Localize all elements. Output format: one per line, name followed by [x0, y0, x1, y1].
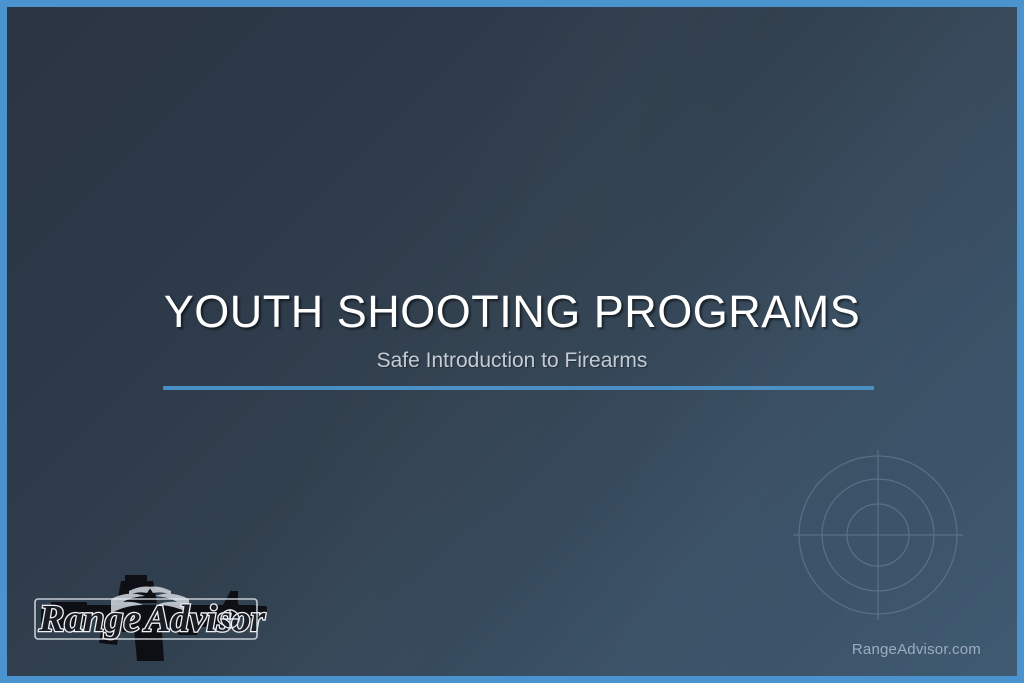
brand-word-range: Range	[38, 598, 140, 640]
slide-frame: YOUTH SHOOTING PROGRAMS Safe Introductio…	[0, 0, 1024, 683]
crosshair-target-icon	[791, 448, 965, 622]
page-title: YOUTH SHOOTING PROGRAMS	[7, 288, 1017, 336]
rifle-silhouette-logo: Range Advisor	[25, 569, 275, 669]
title-block: YOUTH SHOOTING PROGRAMS Safe Introductio…	[7, 288, 1017, 373]
page-subtitle: Safe Introduction to Firearms	[7, 348, 1017, 373]
slide-canvas: YOUTH SHOOTING PROGRAMS Safe Introductio…	[7, 7, 1017, 676]
title-accent-rule	[163, 386, 874, 390]
brand-word-advisor: Advisor	[143, 598, 267, 640]
footer-website-url: RangeAdvisor.com	[852, 641, 981, 658]
